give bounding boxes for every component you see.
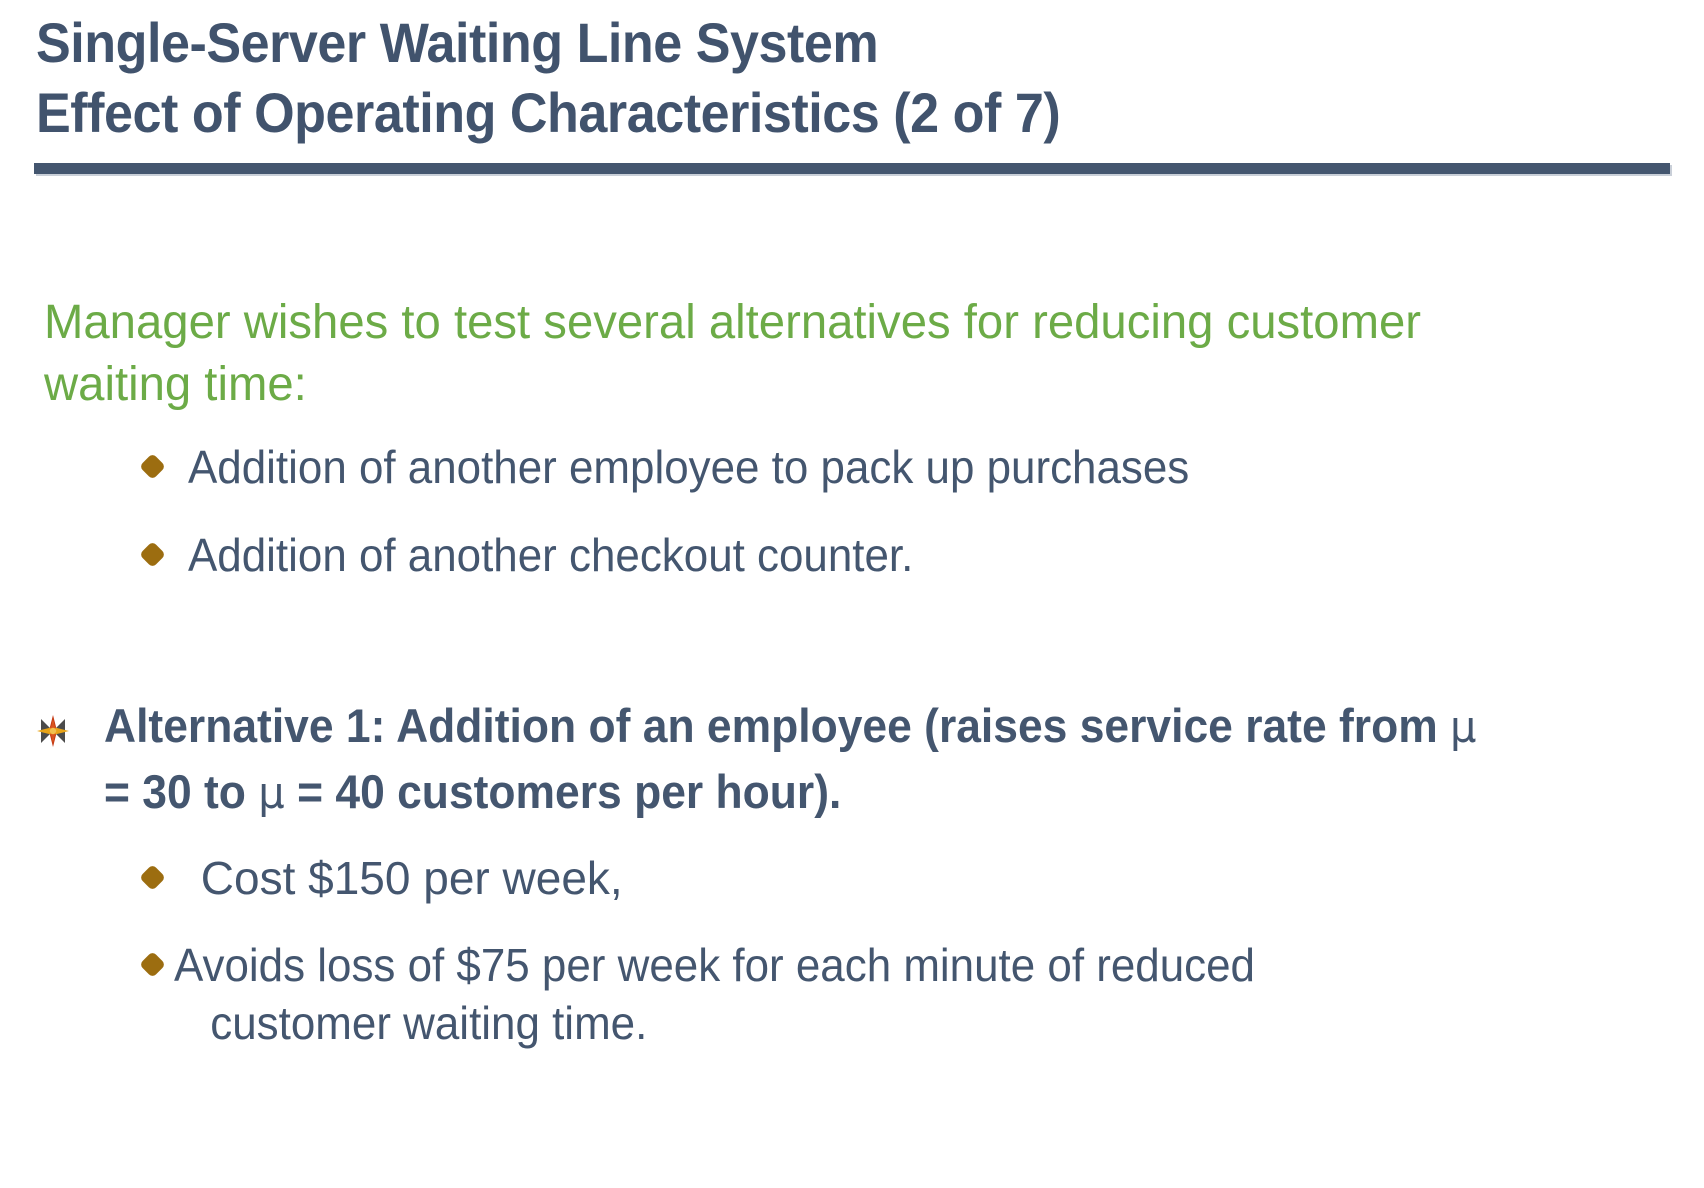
list-item-label-line-1: Avoids loss of $75 per week for each min… <box>174 939 1255 991</box>
list-item-label: Addition of another employee to pack up … <box>188 438 1189 496</box>
list-item-label-line-2: customer waiting time. <box>210 994 1530 1052</box>
diamond-bullet-icon <box>140 542 166 568</box>
alternative-text-part-1: Alternative 1: Addition of an employee (… <box>104 699 1450 752</box>
slide-canvas: Single-Server Waiting Line System Effect… <box>0 0 1704 1188</box>
list-item: Cost $150 per week, <box>140 849 623 907</box>
diamond-bullet-icon <box>140 865 166 891</box>
starburst-bullet-icon <box>36 714 70 748</box>
list-item: Addition of another employee to pack up … <box>140 438 1236 496</box>
alternative-text-part-2: = 30 to <box>104 765 258 818</box>
list-item-label: Avoids loss of $75 per week for each min… <box>174 936 1530 1052</box>
list-item-label: Cost $150 per week, <box>188 849 623 907</box>
alternative-text-part-3: = 40 customers per hour). <box>285 765 842 818</box>
list-item: Addition of another checkout counter. <box>140 526 948 584</box>
list-item: Avoids loss of $75 per week for each min… <box>140 936 1640 1052</box>
diamond-bullet-icon <box>140 952 166 978</box>
list-item-label: Addition of another checkout counter. <box>188 526 913 584</box>
mu-symbol-1: μ <box>1450 702 1476 753</box>
mu-symbol-2: μ <box>258 768 284 819</box>
diamond-bullet-icon <box>140 454 166 480</box>
slide-body: Manager wishes to test several alternati… <box>0 0 1704 1188</box>
lead-paragraph: Manager wishes to test several alternati… <box>44 292 1423 416</box>
alternative-1-item: Alternative 1: Addition of an employee (… <box>36 694 1596 826</box>
alternative-1-label: Alternative 1: Addition of an employee (… <box>104 694 1512 826</box>
